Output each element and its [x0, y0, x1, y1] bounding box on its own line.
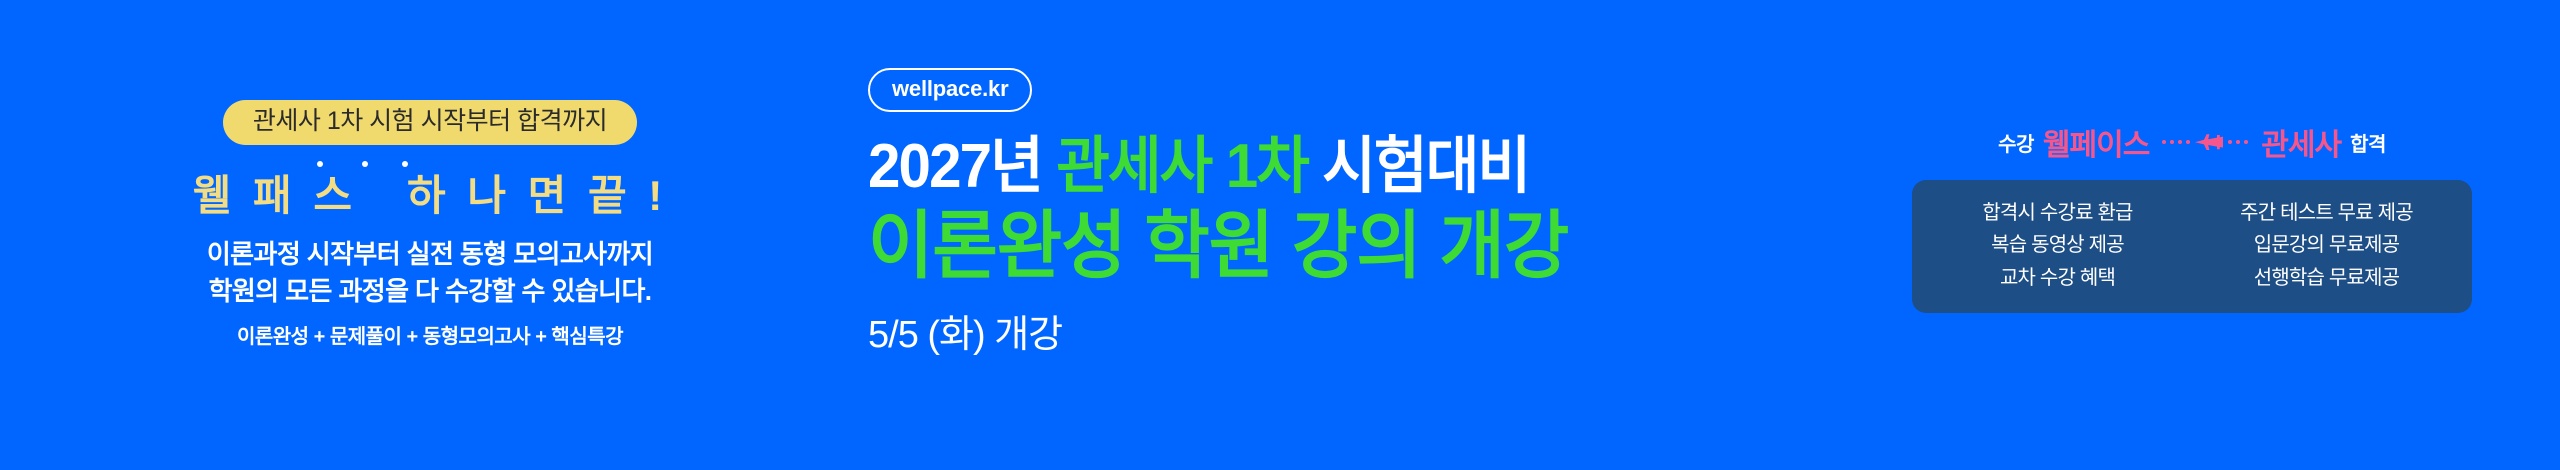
course-scope-badge: 관세사 1차 시험 시작부터 합격까지 — [223, 100, 637, 145]
emphasis-dot-2 — [362, 161, 368, 167]
benefit-item: 선행학습 무료제공 — [2205, 262, 2448, 294]
benefit-item: 주간 테스트 무료 제공 — [2205, 197, 2448, 229]
main-title-prep: 시험대비 — [1308, 132, 1529, 201]
left-panel: 관세사 1차 시험 시작부터 합격까지 웰 패 스 하 나 면 끝 ! 이론과정… — [140, 100, 720, 349]
left-body: 이론과정 시작부터 실전 동형 모의고사까지 학원의 모든 과정을 다 수강할 … — [140, 236, 720, 310]
benefits-box: 합격시 수강료 환급 복습 동영상 제공 교차 수강 혜택 주간 테스트 무료 … — [1912, 180, 2472, 313]
left-body-line-2: 학원의 모든 과정을 다 수강할 수 있습니다. — [140, 273, 720, 310]
start-date: 5/5 (화) 개강 — [868, 303, 1768, 358]
center-panel: wellpace.kr 2027년 관세사 1차 시험대비 이론완성 학원 강의… — [868, 68, 1768, 358]
left-body-line-1: 이론과정 시작부터 실전 동형 모의고사까지 — [140, 236, 720, 273]
benefit-item: 합격시 수강료 환급 — [1936, 197, 2179, 229]
right-panel: 수강 웰페이스 관세사 합격 합격시 수강료 환급 복습 동영상 제공 교 — [1912, 120, 2472, 313]
emphasis-dot-3 — [402, 161, 408, 167]
main-title-year: 2027년 — [868, 132, 1056, 201]
route-dots-right — [2228, 140, 2248, 144]
emphasis-dots — [140, 161, 720, 170]
promo-banner: 관세사 1차 시험 시작부터 합격까지 웰 패 스 하 나 면 끝 ! 이론과정… — [0, 0, 2560, 470]
main-title-line-2: 이론완성 학원 강의 개강 — [868, 207, 1732, 285]
site-url-pill[interactable]: wellpace.kr — [868, 68, 1032, 112]
route-dots-left — [2162, 140, 2190, 144]
left-course-list: 이론완성 + 문제풀이 + 동형모의고사 + 핵심특강 — [140, 320, 720, 349]
airplane-icon — [2194, 131, 2224, 153]
route-suffix-label: 합격 — [2350, 128, 2386, 157]
benefits-column-left: 합격시 수강료 환급 복습 동영상 제공 교차 수강 혜택 — [1936, 197, 2179, 294]
benefit-item: 복습 동영상 제공 — [1936, 229, 2179, 261]
route-origin-label: 웰페이스 — [2043, 120, 2149, 164]
route-destination-label: 관세사 — [2261, 120, 2341, 164]
benefit-item: 교차 수강 혜택 — [1936, 262, 2179, 294]
route-prefix-label: 수강 — [1998, 128, 2034, 157]
benefit-item: 입문강의 무료제공 — [2205, 229, 2448, 261]
main-title-line-1: 2027년 관세사 1차 시험대비 — [868, 134, 1714, 199]
emphasis-dot-1 — [317, 161, 323, 167]
route-path — [2158, 131, 2252, 153]
route-row: 수강 웰페이스 관세사 합격 — [1912, 120, 2472, 164]
main-title-exam: 관세사 1차 — [1056, 132, 1308, 201]
benefits-column-right: 주간 테스트 무료 제공 입문강의 무료제공 선행학습 무료제공 — [2205, 197, 2448, 294]
left-headline: 웰 패 스 하 나 면 끝 ! — [140, 172, 720, 220]
